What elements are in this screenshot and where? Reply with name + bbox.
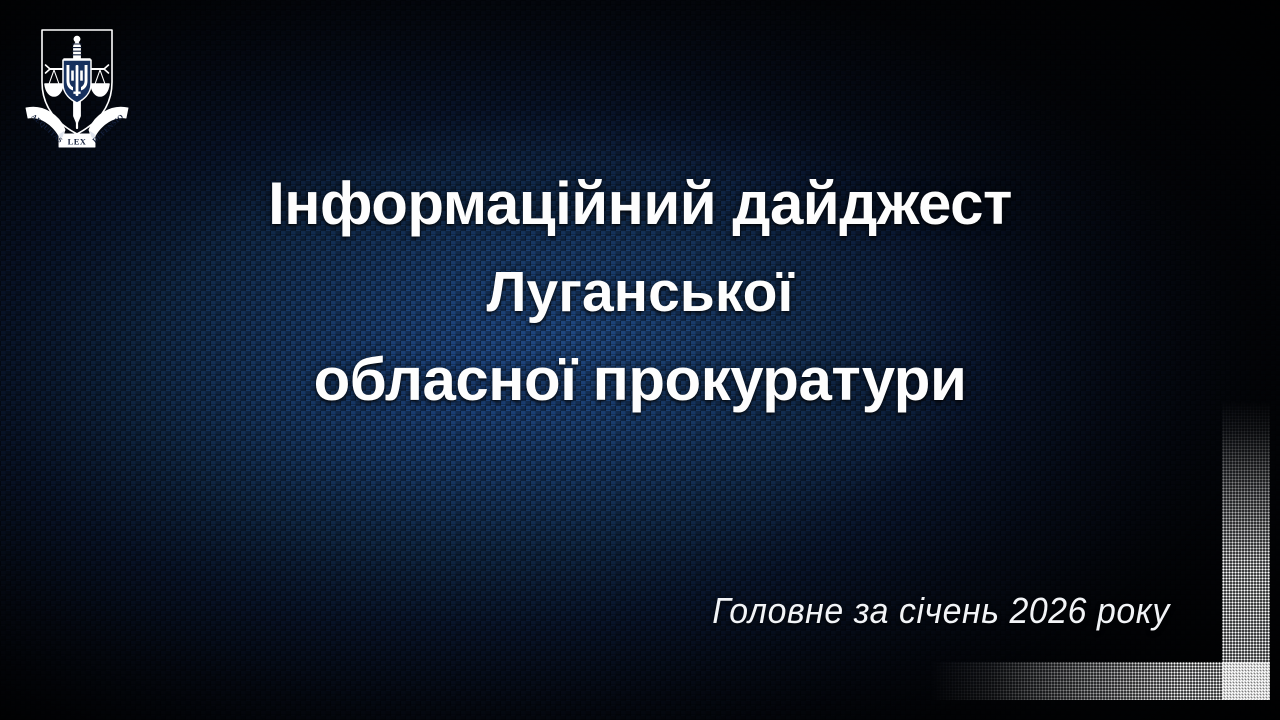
- prosecutor-emblem-icon: AEQUITAS DEFENSIO LEX: [16, 20, 138, 150]
- title-line-2: Луганської: [70, 248, 1210, 336]
- scales-pan-right: [91, 84, 109, 96]
- slide-title: Інформаційний дайджест Луганської обласн…: [0, 160, 1280, 424]
- scales-pan-left: [45, 84, 63, 96]
- title-line-1: Інформаційний дайджест: [70, 160, 1210, 248]
- slide-subtitle: Головне за січень 2026 року: [712, 590, 1170, 632]
- sword-pommel: [74, 37, 79, 42]
- title-line-3: обласної прокуратури: [70, 336, 1210, 424]
- motto-center: LEX: [68, 137, 87, 147]
- presentation-slide: AEQUITAS DEFENSIO LEX Інформаційний дайд…: [0, 0, 1280, 720]
